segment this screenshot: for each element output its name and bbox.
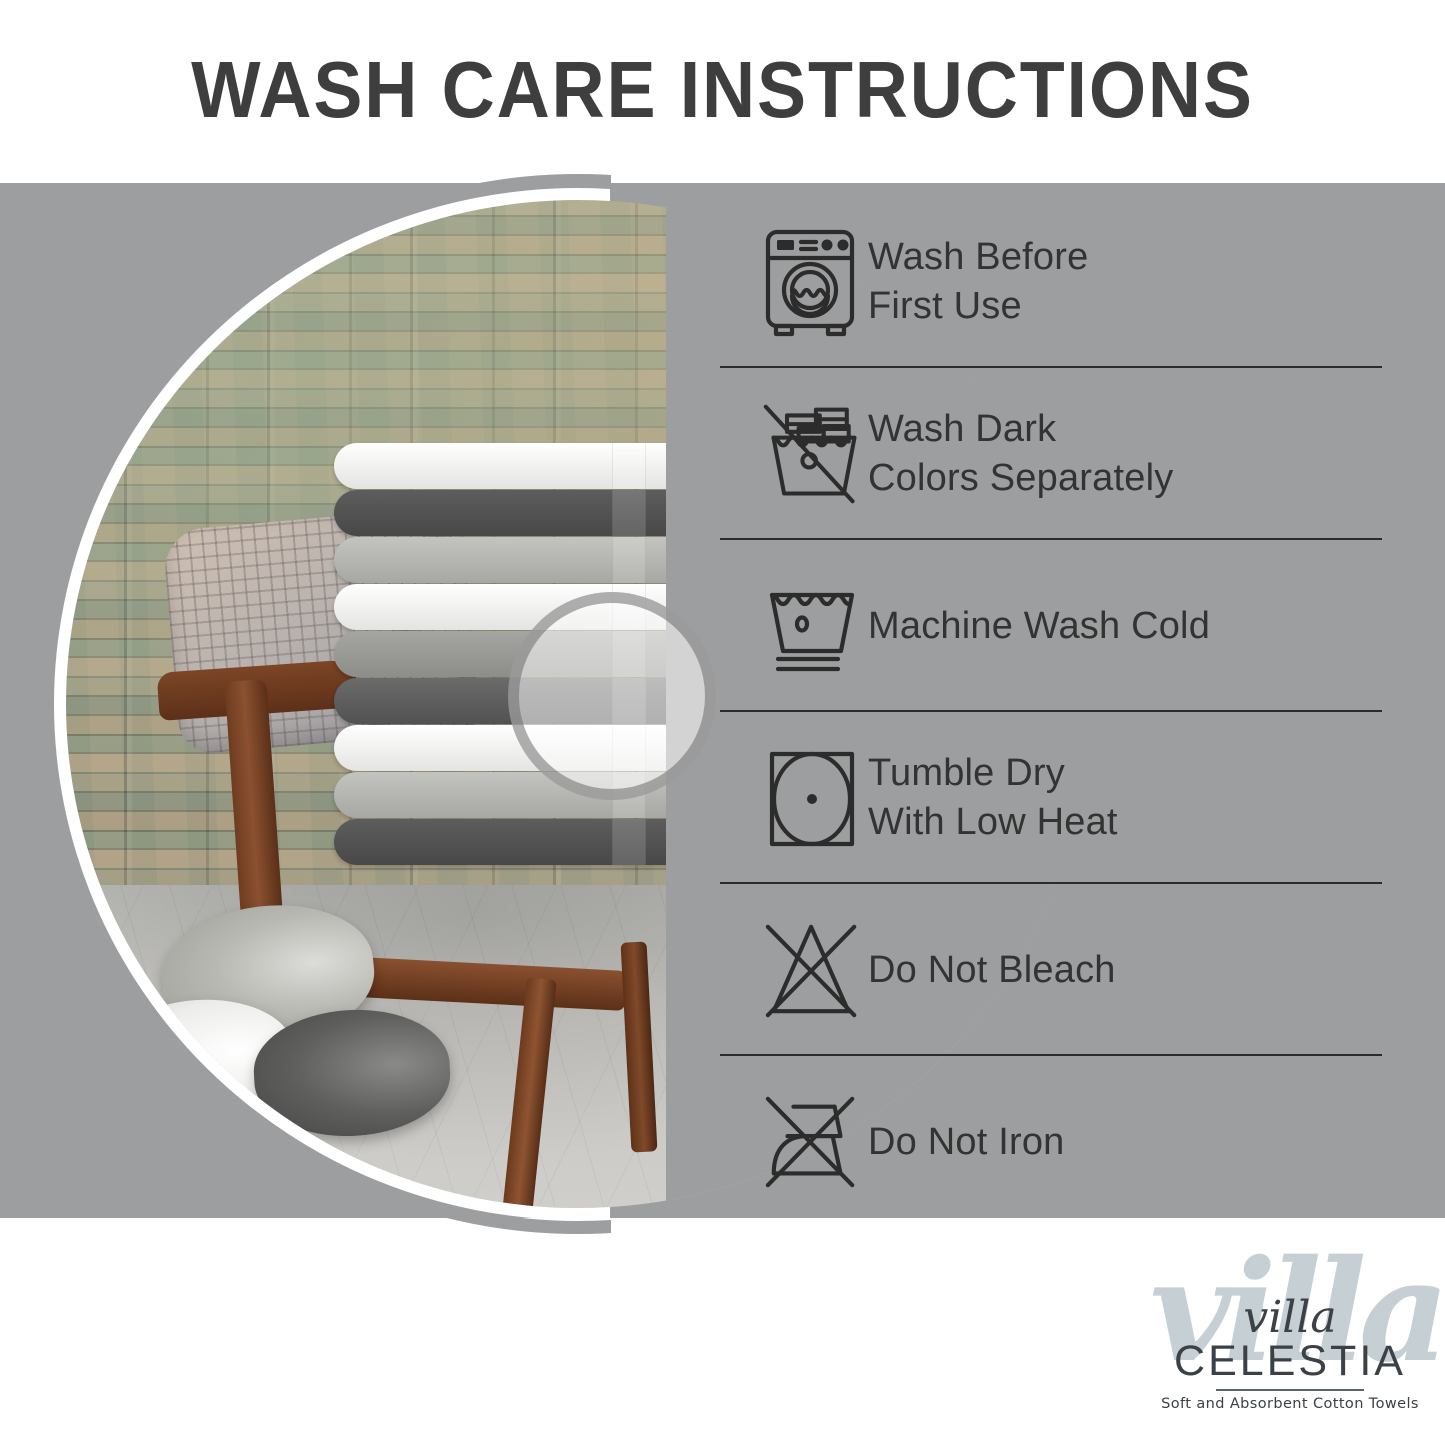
- washing-machine-icon: [718, 226, 868, 338]
- decorative-circle-overlay: [508, 592, 716, 800]
- instruction-list: Wash Before First Use Wash Dark Colors S…: [718, 196, 1383, 1228]
- instruction-row: Tumble Dry With Low Heat: [718, 712, 1383, 884]
- logo-underline: [1216, 1389, 1364, 1391]
- instruction-label: Tumble Dry With Low Heat: [868, 749, 1118, 846]
- wash-tub-cold-icon: [718, 575, 868, 677]
- instruction-row: Do Not Iron: [718, 1056, 1383, 1228]
- instruction-label: Do Not Bleach: [868, 946, 1116, 995]
- logo-brand-name: CELESTIA: [1150, 1340, 1430, 1383]
- no-mixed-wash-basin-icon: [718, 399, 868, 509]
- do-not-bleach-triangle-icon: [718, 916, 868, 1024]
- instruction-row: Do Not Bleach: [718, 884, 1383, 1056]
- instruction-label: Wash Before First Use: [868, 233, 1088, 330]
- tumble-dry-low-icon: [718, 746, 868, 850]
- do-not-iron-icon: [718, 1090, 868, 1194]
- logo-script-villa: villa: [1150, 1296, 1430, 1340]
- instruction-label: Wash Dark Colors Separately: [868, 405, 1173, 502]
- logo-tagline: Soft and Absorbent Cotton Towels: [1150, 1397, 1430, 1412]
- instruction-label: Machine Wash Cold: [868, 602, 1210, 651]
- instruction-row: Wash Before First Use: [718, 196, 1383, 368]
- page-title: WASH CARE INSTRUCTIONS: [58, 44, 1387, 136]
- instruction-label: Do Not Iron: [868, 1118, 1065, 1167]
- brand-logo: villa villa CELESTIA Soft and Absorbent …: [1150, 1248, 1430, 1428]
- instruction-row: Machine Wash Cold: [718, 540, 1383, 712]
- instruction-row: Wash Dark Colors Separately: [718, 368, 1383, 540]
